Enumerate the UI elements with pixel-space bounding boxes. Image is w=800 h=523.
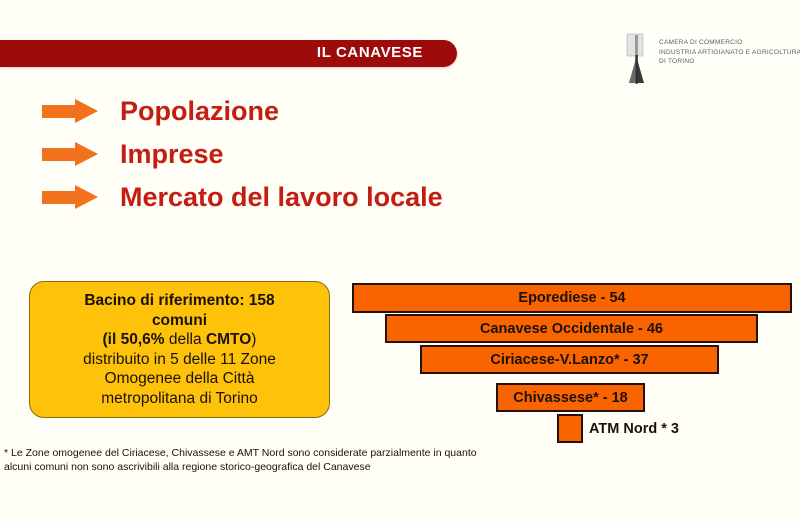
funnel-bar-eporediese[interactable]: Eporediese - 54 [352, 283, 792, 313]
callout-line-2: comuni [152, 311, 207, 331]
logo-text-line1: CAMERA DI COMMERCIO [659, 38, 800, 48]
callout-cmto: CMTO [206, 331, 251, 348]
logo-text: CAMERA DI COMMERCIO INDUSTRIA ARTIGIANAT… [659, 33, 800, 67]
arrow-right-icon [42, 142, 98, 167]
callout-line-3-prefix: (il [103, 331, 121, 348]
callout-line-3-suffix: ) [251, 331, 256, 348]
funnel-bar-ciriacese-vlanzo[interactable]: Ciriacese-V.Lanzo* - 37 [420, 345, 719, 374]
bullet-item-imprese: Imprese [42, 139, 602, 169]
footnote: * Le Zone omogenee del Ciriacese, Chivas… [4, 446, 564, 474]
callout-box: Bacino di riferimento: 158 comuni (il 50… [29, 281, 330, 418]
callout-percentage: 50,6% [121, 331, 165, 348]
logo-text-line2: INDUSTRIA ARTIGIANATO E AGRICOLTURA [659, 48, 800, 58]
bullet-label-mercato-lavoro: Mercato del lavoro locale [120, 182, 443, 212]
callout-line-3: (il 50,6% della CMTO) [103, 330, 257, 350]
bullet-item-mercato-lavoro: Mercato del lavoro locale [42, 182, 602, 212]
footnote-line-1: * Le Zone omogenee del Ciriacese, Chivas… [4, 446, 564, 460]
bullet-label-popolazione: Popolazione [120, 96, 279, 126]
callout-line-3-mid: della [165, 331, 206, 348]
slide-canvas: IL CANAVESE CAMERA DI COMMERCIO INDUSTRI… [0, 0, 800, 523]
logo-text-line3: DI TORINO [659, 57, 800, 67]
callout-line-4: distribuito in 5 delle 11 Zone [83, 350, 276, 370]
callout-line-1: Bacino di riferimento: 158 [84, 291, 274, 311]
funnel-bar-label: Eporediese - 54 [518, 290, 625, 306]
bullet-list: Popolazione Imprese Mercato del lavoro l… [42, 96, 602, 225]
funnel-bar-atm-nord[interactable] [557, 414, 583, 443]
chamber-of-commerce-logo-icon [622, 33, 652, 85]
bullet-item-popolazione: Popolazione [42, 96, 602, 126]
header-banner: IL CANAVESE [0, 40, 457, 67]
arrow-right-icon [42, 185, 98, 210]
funnel-bar-chivassese[interactable]: Chivassese* - 18 [496, 383, 645, 412]
callout-line-6: metropolitana di Torino [101, 389, 258, 409]
page-title: IL CANAVESE [317, 44, 423, 61]
funnel-bar-label: Chivassese* - 18 [513, 390, 627, 406]
funnel-bar-label-atm-nord: ATM Nord * 3 [589, 421, 679, 437]
funnel-bar-label: Canavese Occidentale - 46 [480, 321, 663, 337]
callout-line-5: Omogenee della Città [105, 369, 255, 389]
logo: CAMERA DI COMMERCIO INDUSTRIA ARTIGIANAT… [622, 33, 800, 85]
bullet-label-imprese: Imprese [120, 139, 224, 169]
footnote-line-2: alcuni comuni non sono ascrivibili alla … [4, 460, 564, 474]
arrow-right-icon [42, 99, 98, 124]
funnel-bar-label: Ciriacese-V.Lanzo* - 37 [490, 352, 648, 368]
funnel-bar-canavese-occidentale[interactable]: Canavese Occidentale - 46 [385, 314, 758, 343]
